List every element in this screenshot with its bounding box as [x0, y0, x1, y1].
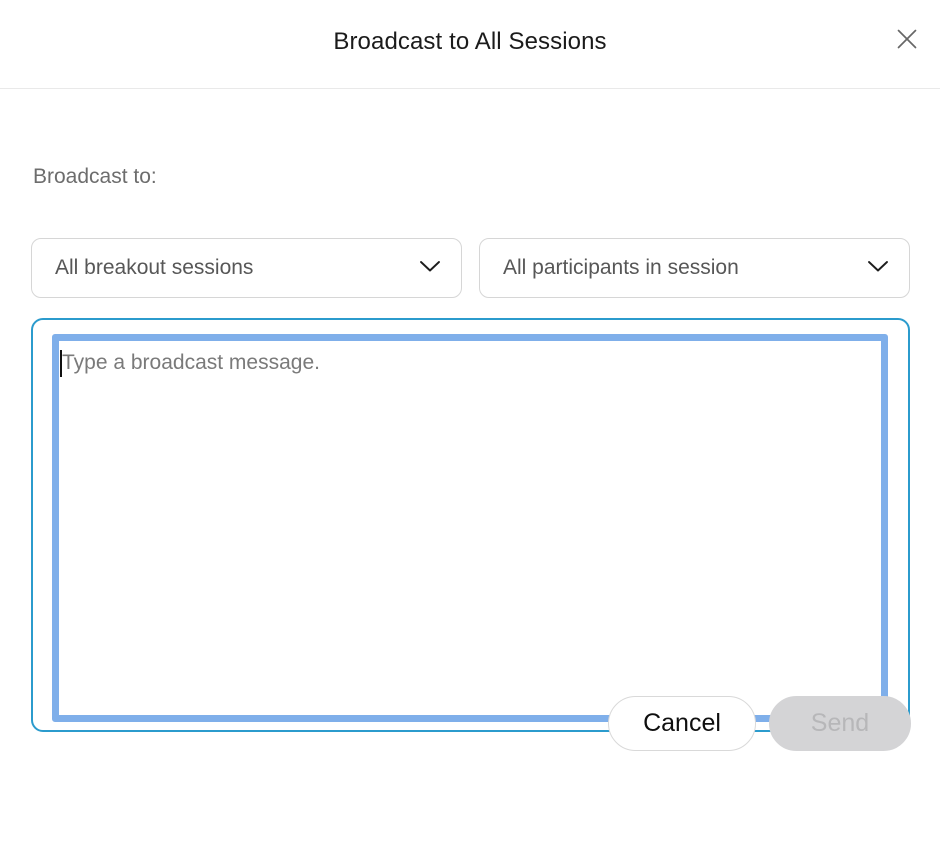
broadcast-audience-select[interactable]: All participants in session	[479, 238, 910, 298]
send-button[interactable]: Send	[769, 696, 911, 751]
chevron-down-icon	[419, 259, 441, 278]
broadcast-target-select[interactable]: All breakout sessions	[31, 238, 462, 298]
broadcast-audience-value: All participants in session	[503, 255, 739, 281]
broadcast-message-input[interactable]: Type a broadcast message.	[52, 334, 888, 722]
broadcast-message-text-layer: Type a broadcast message.	[59, 341, 881, 715]
page-title: Broadcast to All Sessions	[0, 27, 940, 57]
cancel-button[interactable]: Cancel	[608, 696, 756, 751]
select-row: All breakout sessions All participants i…	[31, 238, 910, 298]
close-button[interactable]	[886, 18, 928, 60]
close-icon	[895, 27, 919, 51]
dialog-footer: Cancel Send	[0, 696, 940, 769]
broadcast-message-focus-ring: Type a broadcast message.	[31, 318, 910, 732]
broadcast-dialog: Broadcast to All Sessions Broadcast to: …	[0, 0, 940, 858]
broadcast-target-value: All breakout sessions	[55, 255, 253, 281]
broadcast-message-placeholder: Type a broadcast message.	[62, 349, 320, 377]
chevron-down-icon	[867, 259, 889, 278]
dialog-header: Broadcast to All Sessions	[0, 0, 940, 89]
broadcast-to-label: Broadcast to:	[33, 164, 157, 190]
